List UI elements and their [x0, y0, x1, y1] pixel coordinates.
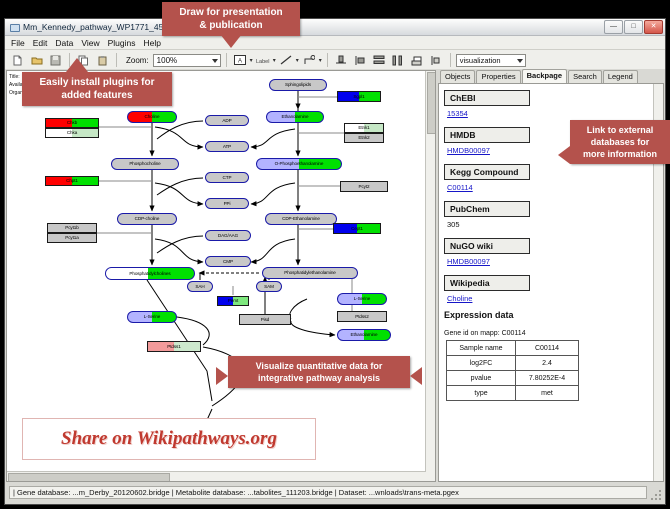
- node-l-serine-left[interactable]: L-Serine: [127, 311, 177, 323]
- zoom-label: Zoom:: [126, 56, 149, 65]
- db-value-pubchem: 305: [447, 220, 653, 229]
- callout-visualize: Visualize quantitative data for integrat…: [228, 356, 410, 388]
- callout-line: databases for: [576, 136, 664, 148]
- distribute-vertical-icon[interactable]: [371, 52, 388, 69]
- node-label: CDP-Ethanolamine: [282, 216, 320, 222]
- node-ethanolamine-right[interactable]: Ethanolamine: [337, 329, 391, 341]
- callout-line: more information: [576, 148, 664, 160]
- db-header-pubchem: PubChem: [444, 201, 530, 217]
- paste-icon[interactable]: [94, 52, 111, 69]
- visualization-value: visualization: [460, 56, 501, 65]
- callout-visualize-arrow-right-icon: [410, 367, 422, 385]
- callout-links-arrow-icon: [558, 146, 570, 164]
- node-label: SAH: [195, 284, 204, 290]
- tab-search[interactable]: Search: [568, 70, 602, 83]
- node-label: Chkb: [67, 120, 77, 126]
- tab-objects[interactable]: Objects: [440, 70, 475, 83]
- cell-key: log2FC: [447, 356, 516, 371]
- status-bar: | Gene database: ...m_Derby_20120602.bri…: [5, 483, 665, 504]
- send-to-back-icon[interactable]: [428, 52, 445, 69]
- table-row: Sample name C00114: [447, 341, 579, 356]
- menu-item-view[interactable]: View: [81, 38, 99, 48]
- toolbar: Zoom: 100% A ▾ Label ▾ ▾ ▾: [5, 50, 665, 71]
- share-banner: Share on Wikipathways.org: [22, 418, 316, 460]
- screenshot-root: Mm_Kennedy_pathway_WP1771_45176.gpml — □…: [0, 0, 670, 509]
- toolbar-separator: [226, 53, 227, 67]
- node-ppi[interactable]: PPi: [205, 198, 249, 209]
- node-label: Sphingolipids: [285, 82, 311, 88]
- node-label: PPi: [224, 201, 231, 207]
- callout-links: Link to external databases for more info…: [570, 120, 670, 164]
- menu-bar: File Edit Data View Plugins Help: [5, 36, 665, 50]
- node-chpt1[interactable]: Chpt1: [45, 176, 99, 186]
- toolbar-separator: [116, 53, 117, 67]
- callout-line: added features: [28, 89, 166, 102]
- cell-value: 7.80252E-4: [516, 371, 579, 386]
- db-header-wikipedia: Wikipedia: [444, 275, 530, 291]
- node-choline[interactable]: Choline: [127, 111, 177, 123]
- open-folder-icon[interactable]: [28, 52, 45, 69]
- bring-to-front-icon[interactable]: [409, 52, 426, 69]
- app-icon: [9, 22, 19, 32]
- node-label: Ethanolamine: [351, 332, 378, 338]
- menu-item-plugins[interactable]: Plugins: [108, 38, 136, 48]
- cell-value: C00114: [516, 341, 579, 356]
- node-label: Chpt1: [66, 178, 78, 184]
- share-banner-text: Share on Wikipathways.org: [61, 428, 277, 450]
- node-label: CTP: [223, 175, 232, 181]
- node-ptdss2[interactable]: Ptdss2: [337, 311, 387, 322]
- expression-data-title: Expression data: [444, 310, 653, 320]
- node-label: L-Serine: [144, 314, 161, 320]
- db-link-chebi[interactable]: 15354: [447, 109, 653, 118]
- node-label: Cept1: [351, 226, 363, 232]
- node-l-serine-right[interactable]: L-Serine: [337, 293, 387, 305]
- new-file-icon[interactable]: [9, 52, 26, 69]
- scrollbar-thumb[interactable]: [8, 473, 170, 482]
- node-label: Phosphocholine: [129, 161, 160, 167]
- cell-value: met: [516, 386, 579, 401]
- node-sam[interactable]: SAM: [256, 281, 282, 292]
- node-label: Sgpl1: [353, 94, 364, 100]
- menu-item-help[interactable]: Help: [144, 38, 161, 48]
- line-dropdown-icon[interactable]: ▾: [296, 57, 299, 64]
- node-label: Chka: [67, 130, 77, 136]
- resize-grip[interactable]: [651, 490, 662, 501]
- gene-id-on-mapp: Gene id on mapp: C00114: [444, 330, 653, 337]
- cell-value: 2.4: [516, 356, 579, 371]
- node-sah[interactable]: SAH: [187, 281, 213, 292]
- callout-line: & publication: [168, 19, 294, 32]
- callout-text: Easily install plugins for added feature…: [22, 72, 172, 106]
- menu-item-edit[interactable]: Edit: [33, 38, 48, 48]
- callout-line: Visualize quantitative data for: [234, 360, 404, 372]
- node-phosphatidylethanolamine[interactable]: Phosphatidylethanolamine: [262, 267, 358, 279]
- node-pemt[interactable]: Pemt: [217, 296, 249, 306]
- node-label: DAG/AAG: [218, 233, 238, 239]
- cell-key: type: [447, 386, 516, 401]
- node-etnk1[interactable]: Etnk1: [344, 123, 384, 133]
- label-dropdown-icon[interactable]: ▾: [273, 57, 276, 64]
- table-row: pvalue 7.80252E-4: [447, 371, 579, 386]
- node-atp[interactable]: ATP: [205, 141, 249, 152]
- canvas-vertical-scrollbar[interactable]: [425, 71, 435, 481]
- node-label: Etnk2: [358, 135, 369, 141]
- zoom-input[interactable]: 100%: [153, 54, 221, 67]
- node-chka[interactable]: Chka: [45, 128, 99, 138]
- node-ethanolamine[interactable]: Ethanolamine: [266, 111, 324, 123]
- node-chkb[interactable]: Chkb: [45, 118, 99, 128]
- node-label: Pcyt1a: [65, 235, 78, 241]
- callout-text: Visualize quantitative data for integrat…: [228, 356, 410, 388]
- status-text: | Gene database: ...m_Derby_20120602.bri…: [9, 486, 647, 499]
- node-ctp[interactable]: CTP: [205, 172, 249, 183]
- save-icon[interactable]: [47, 52, 64, 69]
- chevron-down-icon[interactable]: [212, 59, 218, 63]
- node-label: Ptdss1: [167, 344, 180, 350]
- line-icon[interactable]: [278, 52, 295, 69]
- node-label: Pisd: [261, 317, 270, 323]
- close-button[interactable]: ✕: [644, 20, 663, 34]
- callout-text: Draw for presentation & publication: [162, 2, 300, 36]
- node-label: Phosphatidylethanolamine: [284, 270, 336, 276]
- table-row: log2FC 2.4: [447, 356, 579, 371]
- expression-table: Sample name C00114 log2FC 2.4 pvalue 7.8…: [446, 340, 579, 401]
- side-panel-tabs: Objects Properties Backpage Search Legen…: [438, 70, 664, 83]
- tab-legend[interactable]: Legend: [603, 70, 638, 83]
- node-label: Pemt: [228, 298, 238, 304]
- align-left-icon[interactable]: [352, 52, 369, 69]
- node-label: CMP: [223, 259, 233, 265]
- callout-line: Link to external: [576, 124, 664, 136]
- canvas-horizontal-scrollbar[interactable]: [7, 471, 426, 481]
- menu-item-file[interactable]: File: [11, 38, 25, 48]
- callout-line: Draw for presentation: [168, 6, 294, 19]
- db-header-kegg: Kegg Compound: [444, 164, 530, 180]
- node-etnk2[interactable]: Etnk2: [344, 133, 384, 143]
- distribute-horizontal-icon[interactable]: [390, 52, 407, 69]
- node-sphingolipids[interactable]: Sphingolipids: [269, 79, 327, 91]
- menu-item-data[interactable]: Data: [55, 38, 73, 48]
- minimize-button[interactable]: —: [604, 20, 623, 34]
- svg-text:Label: Label: [256, 59, 269, 65]
- node-cept1[interactable]: Cept1: [333, 223, 381, 234]
- node-phosphatidylcholines[interactable]: Phosphatidylcholines: [105, 267, 195, 280]
- callout-line: integrative pathway analysis: [234, 372, 404, 384]
- label-icon[interactable]: Label: [255, 52, 272, 69]
- zoom-value: 100%: [157, 56, 177, 65]
- node-pcyt1b[interactable]: Pcyt1b: [47, 223, 97, 233]
- node-label: Ptdss2: [355, 314, 368, 320]
- chevron-down-icon[interactable]: [517, 59, 523, 63]
- node-label: Phosphatidylcholines: [129, 271, 170, 277]
- title-bar: Mm_Kennedy_pathway_WP1771_45176.gpml — □…: [5, 19, 665, 36]
- tab-backpage[interactable]: Backpage: [522, 69, 567, 83]
- callout-text: Link to external databases for more info…: [570, 120, 670, 164]
- db-link-kegg[interactable]: C00114: [447, 183, 653, 192]
- node-label: ADP: [222, 118, 231, 124]
- node-cmp[interactable]: CMP: [205, 256, 251, 267]
- db-header-hmdb: HMDB: [444, 127, 530, 143]
- node-label: Ethanolamine: [282, 114, 309, 120]
- node-label: Etnk1: [358, 125, 369, 131]
- db-header-chebi: ChEBI: [444, 90, 530, 106]
- scrollbar-thumb[interactable]: [427, 72, 436, 134]
- node-pisd[interactable]: Pisd: [239, 314, 291, 325]
- node-label: Pcyt1b: [65, 225, 78, 231]
- db-header-nugo-wiki: NuGO wiki: [444, 238, 530, 254]
- node-label: Pcyt2: [359, 184, 370, 190]
- node-label: L-Serine: [354, 296, 371, 302]
- node-label: O-Phosphoethanolamine: [275, 161, 324, 167]
- node-dag[interactable]: DAG/AAG: [205, 230, 251, 241]
- node-sgpl1[interactable]: Sgpl1: [337, 91, 381, 102]
- datanode-icon[interactable]: A: [232, 52, 249, 69]
- callout-draw-arrow-icon: [220, 34, 242, 48]
- callout-visualize-arrow-left-icon: [216, 367, 228, 385]
- node-o-phosphoethanolamine[interactable]: O-Phosphoethanolamine: [256, 158, 342, 170]
- node-ptdss1[interactable]: Ptdss1: [147, 341, 201, 352]
- tab-properties[interactable]: Properties: [476, 70, 520, 83]
- node-adp[interactable]: ADP: [205, 115, 249, 126]
- callout-plugins-arrow-icon: [66, 58, 88, 72]
- node-cdp-choline[interactable]: CDP-choline: [117, 213, 177, 225]
- maximize-button[interactable]: □: [624, 20, 643, 34]
- cell-key: pvalue: [447, 371, 516, 386]
- toolbar-separator: [450, 53, 451, 67]
- callout-line: Easily install plugins for: [28, 76, 166, 89]
- align-top-icon[interactable]: [333, 52, 350, 69]
- node-phosphocholine[interactable]: Phosphocholine: [111, 158, 179, 170]
- svg-text:A: A: [238, 59, 242, 65]
- node-label: CDP-choline: [135, 216, 160, 222]
- db-link-wikipedia[interactable]: Choline: [447, 294, 653, 303]
- cell-key: Sample name: [447, 341, 516, 356]
- callout-draw: Draw for presentation & publication: [162, 2, 300, 36]
- toolbar-separator: [327, 53, 328, 67]
- node-label: Choline: [145, 114, 160, 120]
- node-label: SAM: [264, 284, 274, 290]
- window-buttons: — □ ✕: [604, 20, 663, 34]
- node-cdp-ethanolamine[interactable]: CDP-Ethanolamine: [265, 213, 337, 225]
- connector-dropdown-icon[interactable]: ▾: [319, 57, 322, 64]
- callout-plugins: Easily install plugins for added feature…: [22, 72, 172, 106]
- node-label: ATP: [223, 144, 231, 150]
- connector-icon[interactable]: [301, 52, 318, 69]
- table-row: type met: [447, 386, 579, 401]
- db-link-nugo-wiki[interactable]: HMDB00097: [447, 257, 653, 266]
- node-pcyt1a[interactable]: Pcyt1a: [47, 233, 97, 243]
- datanode-dropdown-icon[interactable]: ▾: [250, 57, 253, 64]
- visualization-select[interactable]: visualization: [456, 54, 526, 67]
- node-pcyt2[interactable]: Pcyt2: [340, 181, 388, 192]
